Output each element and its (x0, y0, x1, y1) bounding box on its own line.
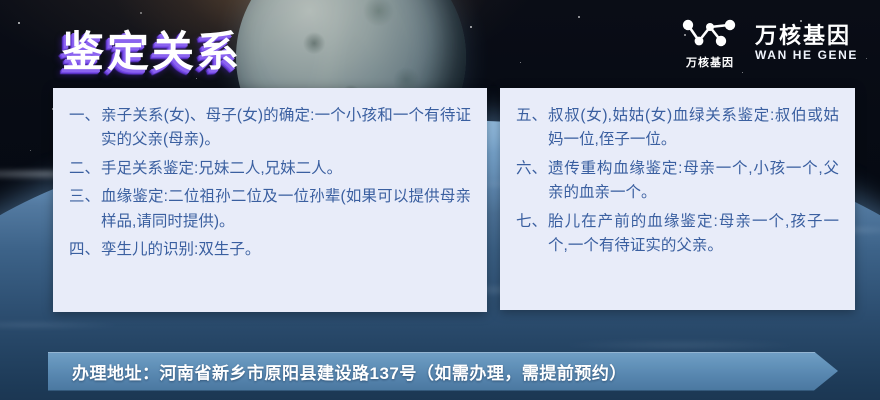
address-text: 办理地址：河南省新乡市原阳县建设路137号（如需办理，需提前预约） (48, 359, 627, 384)
address-banner: 办理地址：河南省新乡市原阳县建设路137号（如需办理，需提前预约） (48, 352, 838, 390)
list-item-text: 手足关系鉴定:兄妹二人,兄妹二人。 (101, 157, 471, 181)
list-item-text: 血缘鉴定:二位祖孙二位及一位孙辈(如果可以提供母亲样品,请同时提供)。 (101, 185, 471, 234)
list-item-text: 亲子关系(女)、母子(女)的确定:一个小孩和一个有待证实的父亲(母亲)。 (101, 104, 471, 153)
list-item: 四、 孪生儿的识别:双生子。 (69, 238, 471, 262)
brand-name: 万核基因 WAN HE GENE (755, 23, 858, 62)
page-title: 鉴定关系 (62, 18, 242, 79)
list-item: 五、 叔叔(女),姑姑(女)血绿关系鉴定:叔伯或姑妈一位,侄子一位。 (516, 104, 839, 153)
list-item-number: 一、 (69, 104, 101, 128)
list-item: 一、 亲子关系(女)、母子(女)的确定:一个小孩和一个有待证实的父亲(母亲)。 (69, 104, 471, 153)
brand-logo: 万核基因 万核基因 WAN HE GENE (679, 16, 858, 70)
list-item-number: 五、 (516, 104, 548, 128)
list-item-number: 六、 (516, 157, 548, 181)
list-item: 三、 血缘鉴定:二位祖孙二位及一位孙辈(如果可以提供母亲样品,请同时提供)。 (69, 185, 471, 234)
list-item-number: 四、 (69, 238, 101, 262)
brand-name-en: WAN HE GENE (755, 49, 858, 63)
list-item-text: 叔叔(女),姑姑(女)血绿关系鉴定:叔伯或姑妈一位,侄子一位。 (548, 104, 839, 153)
list-item: 二、 手足关系鉴定:兄妹二人,兄妹二人。 (69, 157, 471, 181)
list-item-number: 二、 (69, 157, 101, 181)
list-item-number: 七、 (516, 210, 548, 234)
list-item: 七、 胎儿在产前的血缘鉴定:母亲一个,孩子一个,一个有待证实的父亲。 (516, 210, 839, 259)
molecule-icon (679, 16, 741, 52)
brand-name-cn: 万核基因 (755, 23, 858, 48)
list-item-text: 胎儿在产前的血缘鉴定:母亲一个,孩子一个,一个有待证实的父亲。 (548, 210, 839, 259)
logo-mark-label: 万核基因 (686, 54, 734, 70)
list-item: 六、 遗传重构血缘鉴定:母亲一个,小孩一个,父亲的血亲一个。 (516, 157, 839, 206)
relationship-list-panel-right: 五、 叔叔(女),姑姑(女)血绿关系鉴定:叔伯或姑妈一位,侄子一位。 六、 遗传… (500, 88, 855, 310)
list-item-number: 三、 (69, 185, 101, 209)
address-banner-bar: 办理地址：河南省新乡市原阳县建设路137号（如需办理，需提前预约） (48, 352, 838, 391)
poster-canvas: 鉴定关系 万核基因 万核基因 (0, 0, 880, 400)
list-item-text: 孪生儿的识别:双生子。 (101, 238, 471, 262)
logo-mark: 万核基因 (679, 16, 741, 70)
list-item-text: 遗传重构血缘鉴定:母亲一个,小孩一个,父亲的血亲一个。 (548, 157, 839, 206)
relationship-list-panel-left: 一、 亲子关系(女)、母子(女)的确定:一个小孩和一个有待证实的父亲(母亲)。 … (53, 88, 487, 312)
